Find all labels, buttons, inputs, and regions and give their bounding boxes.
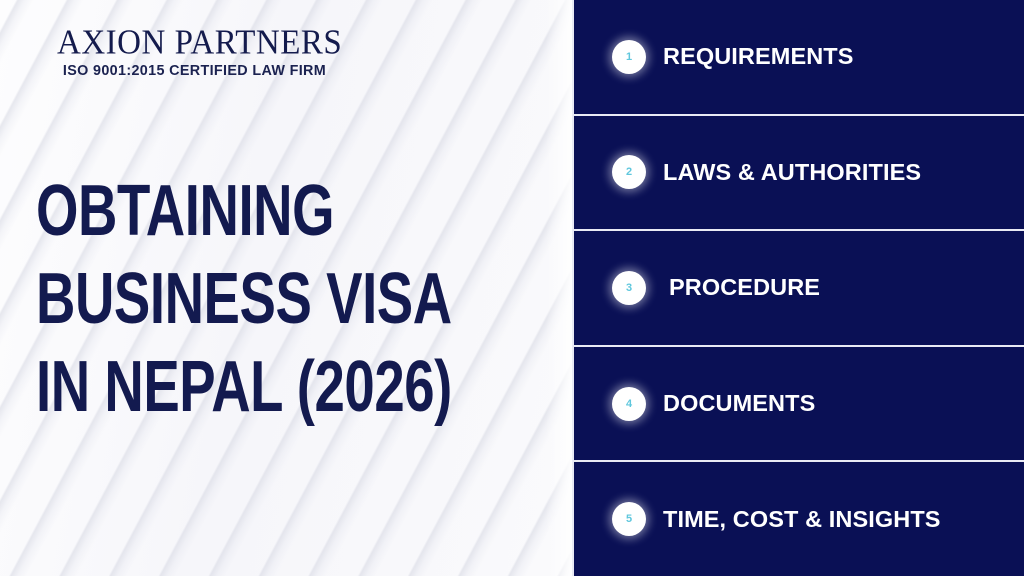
slide-root: AXION PARTNERS ISO 9001:2015 CERTIFIED L… (0, 0, 1024, 576)
agenda-number-badge-3: 3 (612, 271, 646, 305)
agenda-number-badge-4: 4 (612, 387, 646, 421)
agenda-item-time-cost-insights[interactable]: 5 TIME, COST & INSIGHTS (572, 460, 1024, 576)
title-line-1: OBTAINING (36, 161, 485, 263)
brand-wordmark: AXION PARTNERS (57, 26, 332, 62)
brand-logo: AXION PARTNERS ISO 9001:2015 CERTIFIED L… (57, 26, 332, 79)
agenda-label-5: TIME, COST & INSIGHTS (663, 506, 941, 533)
agenda-number-badge-5: 5 (612, 502, 646, 536)
agenda-item-laws-authorities[interactable]: 2 LAWS & AUTHORITIES (572, 114, 1024, 230)
agenda-item-documents[interactable]: 4 DOCUMENTS (572, 345, 1024, 461)
agenda-label-1: REQUIREMENTS (663, 43, 854, 70)
agenda-item-procedure[interactable]: 3 PROCEDURE (572, 229, 1024, 345)
agenda-label-3: PROCEDURE (669, 274, 820, 301)
brand-tagline: ISO 9001:2015 CERTIFIED LAW FIRM (58, 63, 330, 79)
agenda-number-badge-1: 1 (612, 40, 646, 74)
left-content-panel: AXION PARTNERS ISO 9001:2015 CERTIFIED L… (0, 0, 572, 576)
page-title: OBTAINING BUSINESS VISA IN NEPAL (2026) (36, 168, 546, 432)
agenda-panel: 1 REQUIREMENTS 2 LAWS & AUTHORITIES 3 PR… (572, 0, 1024, 576)
agenda-label-4: DOCUMENTS (663, 390, 815, 417)
title-line-2: BUSINESS VISA (36, 249, 485, 351)
agenda-number-badge-2: 2 (612, 155, 646, 189)
title-line-3: IN NEPAL (2026) (36, 337, 485, 439)
agenda-label-2: LAWS & AUTHORITIES (663, 159, 921, 186)
agenda-item-requirements[interactable]: 1 REQUIREMENTS (572, 0, 1024, 114)
